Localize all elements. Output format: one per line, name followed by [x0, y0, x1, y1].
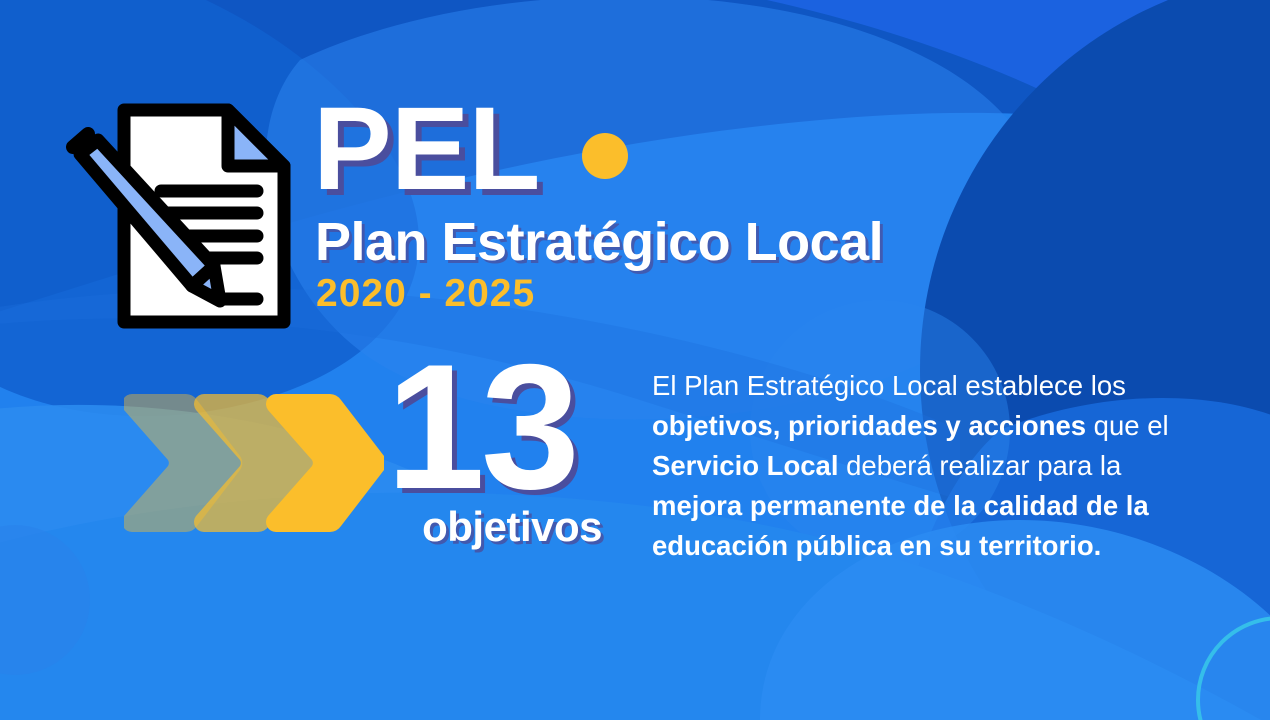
- document-pencil-icon: [52, 96, 300, 336]
- yellow-dot-icon: [582, 133, 628, 179]
- document-fold-corner: [228, 110, 284, 166]
- description-line-5: educación pública en su territorio.: [652, 526, 1192, 566]
- infographic-banner: PEL Plan Estratégico Local 2020 - 2025 1…: [0, 0, 1270, 720]
- objectives-count-block: 13 objetivos: [352, 352, 610, 548]
- description-line-1: El Plan Estratégico Local establece los: [652, 366, 1192, 406]
- chevron-progression-icon: [124, 388, 384, 538]
- description-line-4: mejora permanente de la calidad de la: [652, 486, 1192, 526]
- objectives-count-number: 13: [352, 352, 610, 502]
- period-label: 2020 - 2025: [316, 273, 1013, 316]
- title-block: PEL Plan Estratégico Local 2020 - 2025: [313, 90, 1013, 316]
- page-title-acronym: PEL: [313, 95, 540, 204]
- pencil-eraser: [73, 134, 88, 147]
- page-subtitle: Plan Estratégico Local: [315, 214, 1013, 271]
- description-paragraph: El Plan Estratégico Local establece los …: [652, 366, 1192, 566]
- acronym-row: PEL: [313, 90, 1013, 208]
- description-line-3: Servicio Local deberá realizar para la: [652, 446, 1192, 486]
- description-line-2: objetivos, prioridades y acciones que el: [652, 406, 1192, 446]
